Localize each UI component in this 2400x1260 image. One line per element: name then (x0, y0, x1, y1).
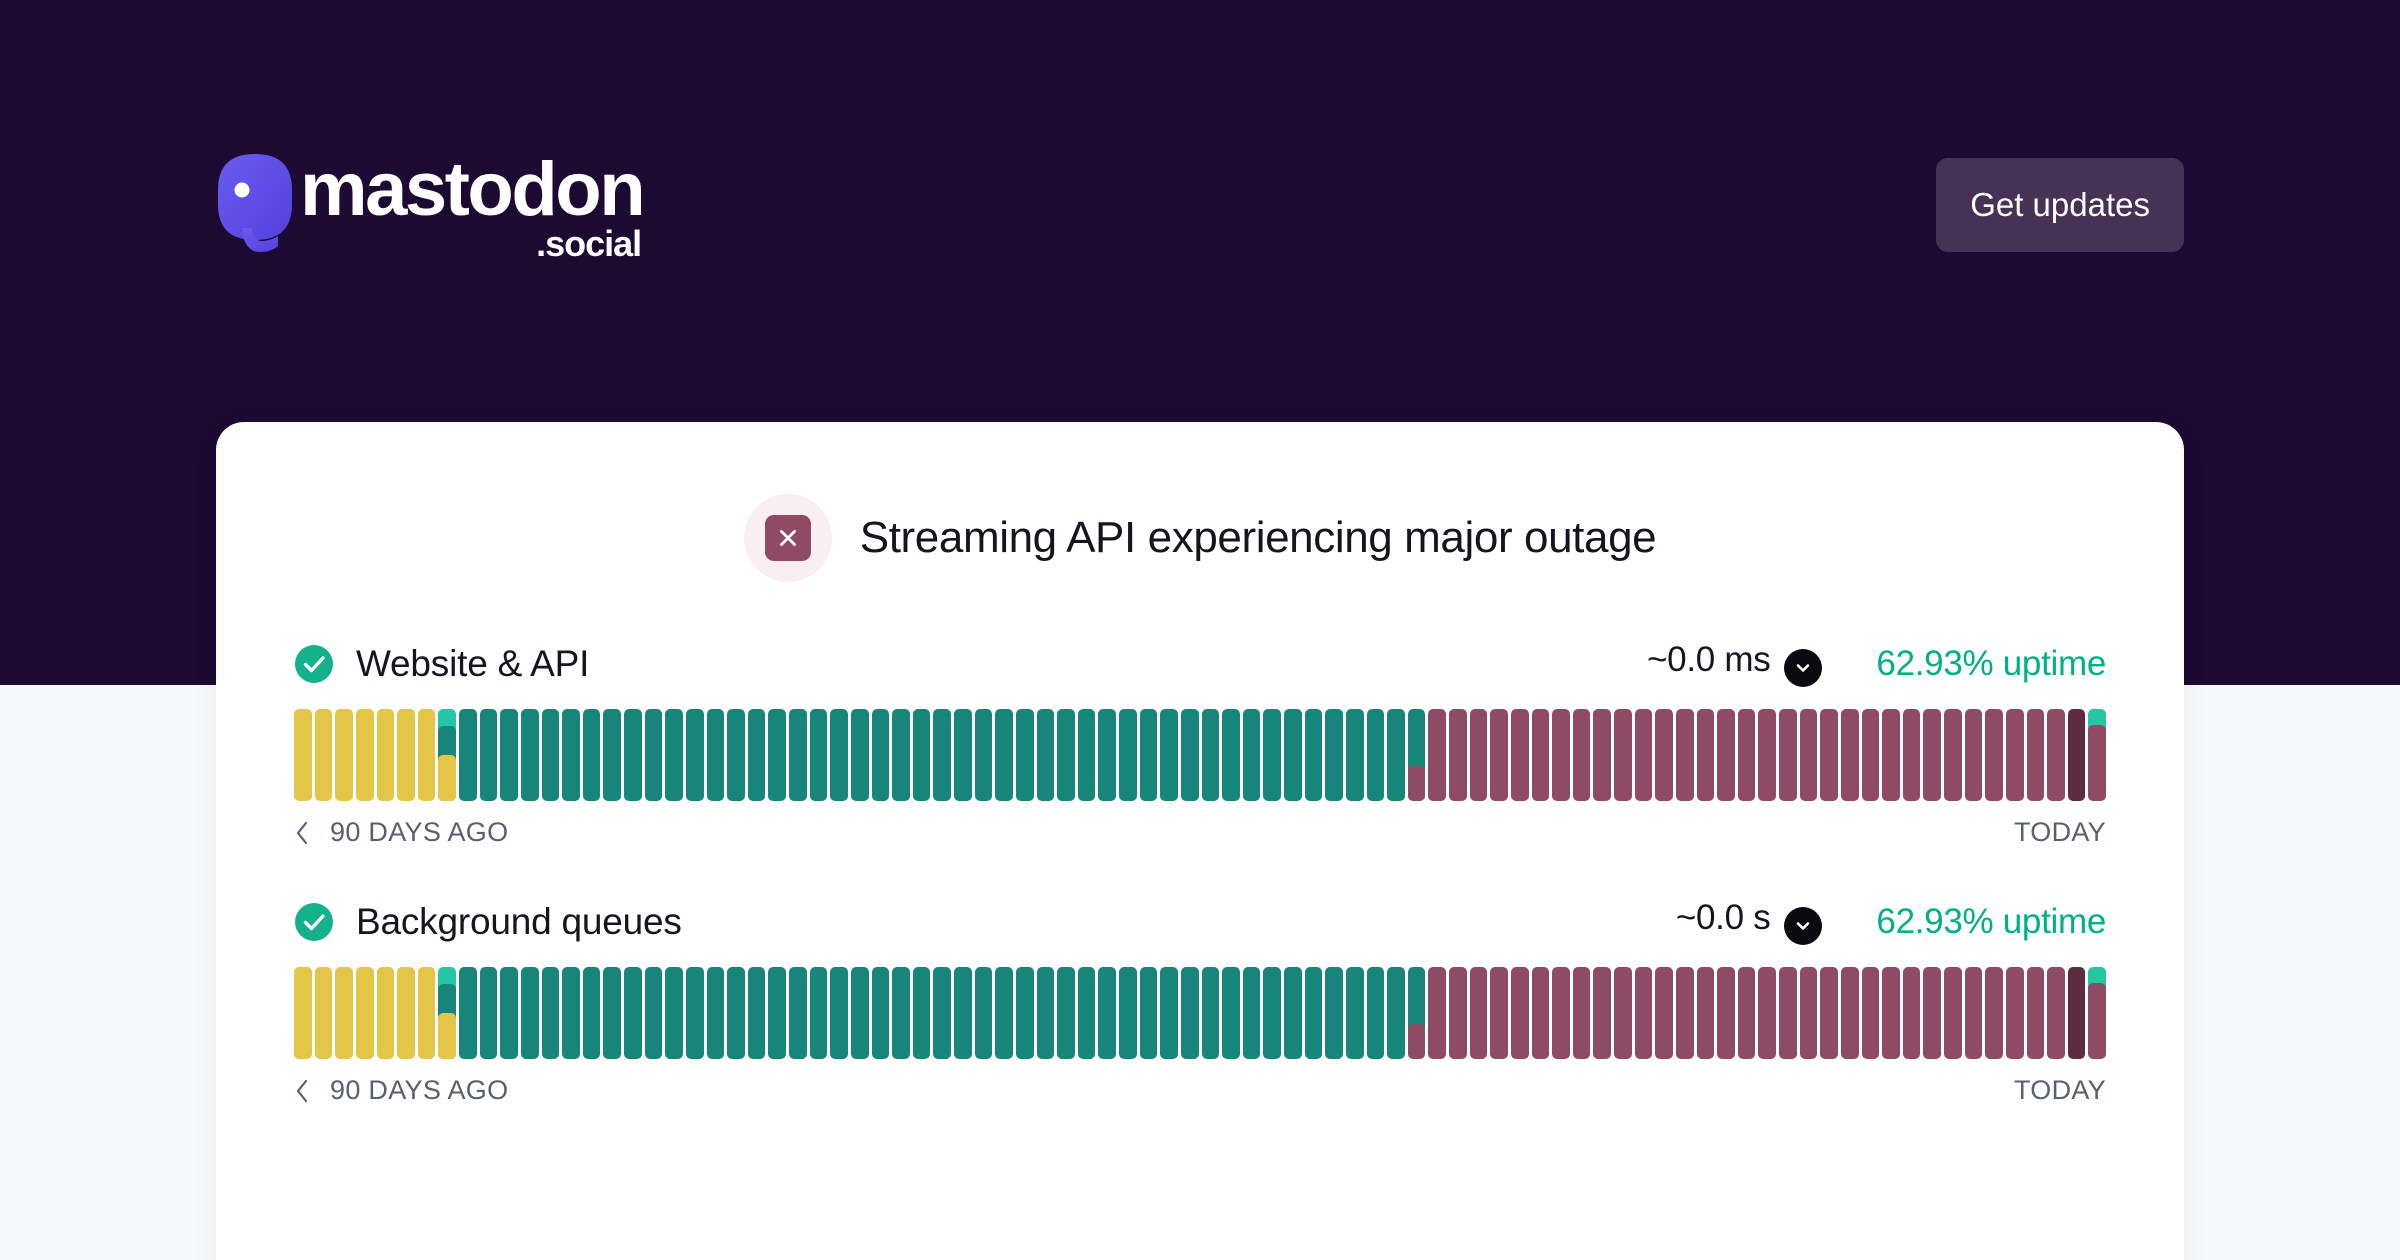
uptime-bar[interactable] (1635, 967, 1653, 1059)
uptime-bar[interactable] (418, 967, 436, 1059)
uptime-bar[interactable] (480, 709, 498, 801)
chevron-down-icon[interactable] (1784, 649, 1822, 687)
uptime-bar[interactable] (1016, 709, 1034, 801)
uptime-bar[interactable] (830, 967, 848, 1059)
uptime-bar[interactable] (1965, 967, 1983, 1059)
uptime-bar[interactable] (1532, 967, 1550, 1059)
uptime-bar[interactable] (707, 709, 725, 801)
uptime-bar[interactable] (2027, 967, 2045, 1059)
uptime-bar[interactable] (1305, 709, 1323, 801)
uptime-bar[interactable] (1325, 967, 1343, 1059)
bar-segment (1408, 766, 1426, 801)
uptime-bar[interactable] (830, 709, 848, 801)
uptime-bar[interactable] (1758, 709, 1776, 801)
uptime-bar[interactable] (995, 967, 1013, 1059)
uptime-bar[interactable] (2006, 709, 2024, 801)
uptime-bar[interactable] (748, 967, 766, 1059)
uptime-bar[interactable] (624, 967, 642, 1059)
uptime-bar[interactable] (1490, 709, 1508, 801)
uptime-bar[interactable] (789, 709, 807, 801)
uptime-bar[interactable] (1408, 709, 1426, 801)
uptime-bar[interactable] (1841, 709, 1859, 801)
uptime-bar[interactable] (1676, 967, 1694, 1059)
uptime-bar[interactable] (377, 967, 395, 1059)
uptime-bar[interactable] (1408, 967, 1426, 1059)
service-uptime: 62.93% uptime (1876, 902, 2106, 942)
uptime-bar[interactable] (1532, 709, 1550, 801)
uptime-bar[interactable] (1882, 967, 1900, 1059)
uptime-bar[interactable] (1738, 709, 1756, 801)
uptime-bar[interactable] (1965, 709, 1983, 801)
uptime-bar[interactable] (1119, 967, 1137, 1059)
uptime-bar[interactable] (913, 967, 931, 1059)
uptime-bar[interactable] (2088, 967, 2106, 1059)
uptime-bar[interactable] (954, 967, 972, 1059)
uptime-bar[interactable] (851, 967, 869, 1059)
range-start[interactable]: 90 DAYS AGO (294, 817, 508, 848)
uptime-bar[interactable] (480, 967, 498, 1059)
uptime-bar[interactable] (1098, 967, 1116, 1059)
uptime-bar[interactable] (356, 709, 374, 801)
uptime-bar[interactable] (1160, 709, 1178, 801)
service-name: Background queues (356, 901, 682, 943)
uptime-bar[interactable] (1305, 967, 1323, 1059)
uptime-bar[interactable] (356, 967, 374, 1059)
uptime-bar[interactable] (1160, 967, 1178, 1059)
service-row-background-queues: Background queues ~0.0 s 62.93% uptime 9… (294, 898, 2106, 1106)
uptime-bar[interactable] (1511, 709, 1529, 801)
uptime-bar[interactable] (1923, 709, 1941, 801)
uptime-bar[interactable] (1037, 967, 1055, 1059)
check-circle-icon (294, 902, 334, 942)
uptime-bar[interactable] (1800, 709, 1818, 801)
uptime-bar[interactable] (1862, 967, 1880, 1059)
bar-range-footer: 90 DAYS AGO TODAY (294, 817, 2106, 848)
uptime-bar[interactable] (2068, 709, 2086, 801)
uptime-bar[interactable] (315, 967, 333, 1059)
uptime-bar[interactable] (727, 967, 745, 1059)
uptime-bar[interactable] (1758, 967, 1776, 1059)
uptime-bar[interactable] (645, 967, 663, 1059)
uptime-bar[interactable] (1119, 709, 1137, 801)
uptime-bar[interactable] (1676, 709, 1694, 801)
uptime-bar[interactable] (294, 967, 312, 1059)
uptime-bar[interactable] (397, 709, 415, 801)
uptime-bar[interactable] (1387, 967, 1405, 1059)
uptime-bar[interactable] (872, 709, 890, 801)
uptime-bar[interactable] (1284, 967, 1302, 1059)
uptime-bar[interactable] (686, 967, 704, 1059)
uptime-bar-chart[interactable] (294, 967, 2106, 1059)
uptime-bar[interactable] (1903, 709, 1921, 801)
uptime-bar[interactable] (872, 967, 890, 1059)
uptime-bar[interactable] (1346, 967, 1364, 1059)
service-header: Background queues ~0.0 s 62.93% uptime (294, 898, 2106, 945)
service-row-website-api: Website & API ~0.0 ms 62.93% uptime 90 D… (294, 640, 2106, 848)
uptime-bar[interactable] (975, 967, 993, 1059)
uptime-bar[interactable] (500, 709, 518, 801)
uptime-bar[interactable] (851, 709, 869, 801)
incident-icon-ring (744, 494, 832, 582)
uptime-bar[interactable] (1944, 709, 1962, 801)
uptime-bar[interactable] (645, 709, 663, 801)
uptime-bar[interactable] (1944, 967, 1962, 1059)
uptime-bar[interactable] (583, 709, 601, 801)
uptime-bar[interactable] (1470, 967, 1488, 1059)
bar-segment (1408, 1024, 1426, 1059)
uptime-bar[interactable] (975, 709, 993, 801)
uptime-bar[interactable] (1263, 709, 1281, 801)
uptime-bar[interactable] (500, 967, 518, 1059)
bar-segment (438, 1013, 456, 1059)
x-mark-icon (765, 515, 811, 561)
chevron-down-icon[interactable] (1784, 907, 1822, 945)
uptime-bar[interactable] (1841, 967, 1859, 1059)
uptime-bar[interactable] (438, 709, 456, 801)
uptime-bar[interactable] (1140, 709, 1158, 801)
latency-value: ~0.0 ms (1647, 640, 1770, 679)
logo-wordmark: mastodon (300, 152, 643, 228)
uptime-bar[interactable] (2088, 709, 2106, 801)
uptime-bar[interactable] (1573, 709, 1591, 801)
uptime-bar[interactable] (748, 709, 766, 801)
chevron-left-icon (294, 818, 314, 848)
range-end-label: TODAY (2014, 1075, 2106, 1106)
uptime-bar[interactable] (810, 967, 828, 1059)
uptime-bar[interactable] (1222, 709, 1240, 801)
uptime-bar[interactable] (603, 967, 621, 1059)
uptime-bar[interactable] (1779, 709, 1797, 801)
get-updates-button[interactable]: Get updates (1936, 158, 2184, 252)
uptime-bar[interactable] (1016, 967, 1034, 1059)
uptime-bar[interactable] (995, 709, 1013, 801)
logo-text: mastodon .social (300, 152, 643, 256)
uptime-bar[interactable] (1202, 967, 1220, 1059)
uptime-bar[interactable] (2047, 967, 2065, 1059)
uptime-bar[interactable] (1490, 967, 1508, 1059)
bar-range-footer: 90 DAYS AGO TODAY (294, 1075, 2106, 1106)
bar-segment (2088, 983, 2106, 1059)
service-header: Website & API ~0.0 ms 62.93% uptime (294, 640, 2106, 687)
uptime-bar[interactable] (1449, 967, 1467, 1059)
uptime-bar[interactable] (933, 967, 951, 1059)
uptime-bar[interactable] (2027, 709, 2045, 801)
uptime-bar[interactable] (1367, 967, 1385, 1059)
uptime-bar-chart[interactable] (294, 709, 2106, 801)
uptime-bar[interactable] (1882, 709, 1900, 801)
uptime-bar[interactable] (1243, 709, 1261, 801)
uptime-bar[interactable] (1346, 709, 1364, 801)
range-start-label: 90 DAYS AGO (330, 1075, 508, 1106)
uptime-bar[interactable] (1428, 709, 1446, 801)
uptime-bar[interactable] (1779, 967, 1797, 1059)
uptime-bar[interactable] (1263, 967, 1281, 1059)
uptime-bar[interactable] (1862, 709, 1880, 801)
uptime-bar[interactable] (1552, 709, 1570, 801)
uptime-bar[interactable] (1923, 967, 1941, 1059)
uptime-bar[interactable] (1057, 967, 1075, 1059)
service-latency: ~0.0 ms (1647, 640, 1822, 687)
uptime-bar[interactable] (624, 709, 642, 801)
chevron-left-icon (294, 1076, 314, 1106)
uptime-bar[interactable] (2068, 967, 2086, 1059)
latency-value: ~0.0 s (1676, 898, 1771, 937)
uptime-bar[interactable] (1078, 709, 1096, 801)
uptime-bar[interactable] (707, 967, 725, 1059)
uptime-bar[interactable] (665, 709, 683, 801)
uptime-bar[interactable] (1284, 709, 1302, 801)
uptime-bar[interactable] (521, 967, 539, 1059)
uptime-bar[interactable] (1140, 967, 1158, 1059)
uptime-bar[interactable] (1243, 967, 1261, 1059)
uptime-bar[interactable] (335, 967, 353, 1059)
range-end-label: TODAY (2014, 817, 2106, 848)
uptime-bar[interactable] (1593, 967, 1611, 1059)
uptime-bar[interactable] (892, 709, 910, 801)
services-list: Website & API ~0.0 ms 62.93% uptime 90 D… (216, 640, 2184, 1106)
uptime-bar[interactable] (789, 967, 807, 1059)
uptime-bar[interactable] (459, 709, 477, 801)
uptime-bar[interactable] (768, 967, 786, 1059)
incident-banner[interactable]: Streaming API experiencing major outage (216, 422, 2184, 640)
service-uptime: 62.93% uptime (1876, 644, 2106, 684)
uptime-bar[interactable] (1078, 967, 1096, 1059)
uptime-bar[interactable] (1428, 967, 1446, 1059)
uptime-bar[interactable] (1697, 967, 1715, 1059)
uptime-bar[interactable] (1593, 709, 1611, 801)
uptime-bar[interactable] (1367, 709, 1385, 801)
uptime-bar[interactable] (1985, 709, 2003, 801)
uptime-bar[interactable] (1697, 709, 1715, 801)
service-latency: ~0.0 s (1676, 898, 1823, 945)
uptime-bar[interactable] (1820, 709, 1838, 801)
uptime-bar[interactable] (1717, 709, 1735, 801)
uptime-bar[interactable] (1470, 709, 1488, 801)
uptime-bar[interactable] (1820, 967, 1838, 1059)
uptime-bar[interactable] (583, 967, 601, 1059)
uptime-bar[interactable] (768, 709, 786, 801)
uptime-bar[interactable] (418, 709, 436, 801)
header-content: mastodon .social Get updates (0, 0, 2400, 420)
uptime-bar[interactable] (913, 709, 931, 801)
uptime-bar[interactable] (1202, 709, 1220, 801)
uptime-bar[interactable] (1614, 967, 1632, 1059)
uptime-bar[interactable] (1985, 967, 2003, 1059)
uptime-bar[interactable] (294, 709, 312, 801)
uptime-bar[interactable] (1573, 967, 1591, 1059)
uptime-bar[interactable] (542, 967, 560, 1059)
uptime-bar[interactable] (686, 709, 704, 801)
site-logo[interactable]: mastodon .social (216, 152, 643, 256)
uptime-bar[interactable] (933, 709, 951, 801)
uptime-bar[interactable] (1098, 709, 1116, 801)
bar-segment (438, 755, 456, 801)
uptime-bar[interactable] (1387, 709, 1405, 801)
uptime-bar[interactable] (562, 967, 580, 1059)
mastodon-elephant-icon (216, 152, 294, 256)
uptime-bar[interactable] (1655, 709, 1673, 801)
incident-title: Streaming API experiencing major outage (860, 513, 1656, 563)
uptime-bar[interactable] (1181, 967, 1199, 1059)
uptime-bar[interactable] (810, 709, 828, 801)
uptime-bar[interactable] (315, 709, 333, 801)
check-circle-icon (294, 644, 334, 684)
uptime-bar[interactable] (2047, 709, 2065, 801)
range-start-label: 90 DAYS AGO (330, 817, 508, 848)
uptime-bar[interactable] (1717, 967, 1735, 1059)
uptime-bar[interactable] (1800, 967, 1818, 1059)
uptime-bar[interactable] (1449, 709, 1467, 801)
uptime-bar[interactable] (377, 709, 395, 801)
uptime-bar[interactable] (459, 967, 477, 1059)
uptime-bar[interactable] (665, 967, 683, 1059)
uptime-bar[interactable] (1738, 967, 1756, 1059)
uptime-bar[interactable] (397, 967, 415, 1059)
uptime-bar[interactable] (562, 709, 580, 801)
uptime-bar[interactable] (1635, 709, 1653, 801)
uptime-bar[interactable] (1655, 967, 1673, 1059)
service-name: Website & API (356, 643, 589, 685)
uptime-bar[interactable] (1222, 967, 1240, 1059)
uptime-bar[interactable] (1057, 709, 1075, 801)
uptime-bar[interactable] (2006, 967, 2024, 1059)
uptime-bar[interactable] (1552, 967, 1570, 1059)
uptime-bar[interactable] (1903, 967, 1921, 1059)
uptime-bar[interactable] (542, 709, 560, 801)
uptime-bar[interactable] (1325, 709, 1343, 801)
uptime-bar[interactable] (727, 709, 745, 801)
uptime-bar[interactable] (1181, 709, 1199, 801)
uptime-bar[interactable] (521, 709, 539, 801)
uptime-bar[interactable] (335, 709, 353, 801)
uptime-bar[interactable] (438, 967, 456, 1059)
range-start[interactable]: 90 DAYS AGO (294, 1075, 508, 1106)
uptime-bar[interactable] (1614, 709, 1632, 801)
uptime-bar[interactable] (1037, 709, 1055, 801)
uptime-bar[interactable] (954, 709, 972, 801)
status-card: Streaming API experiencing major outage … (216, 422, 2184, 1260)
uptime-bar[interactable] (892, 967, 910, 1059)
bar-segment (2088, 725, 2106, 801)
uptime-bar[interactable] (603, 709, 621, 801)
uptime-bar[interactable] (1511, 967, 1529, 1059)
